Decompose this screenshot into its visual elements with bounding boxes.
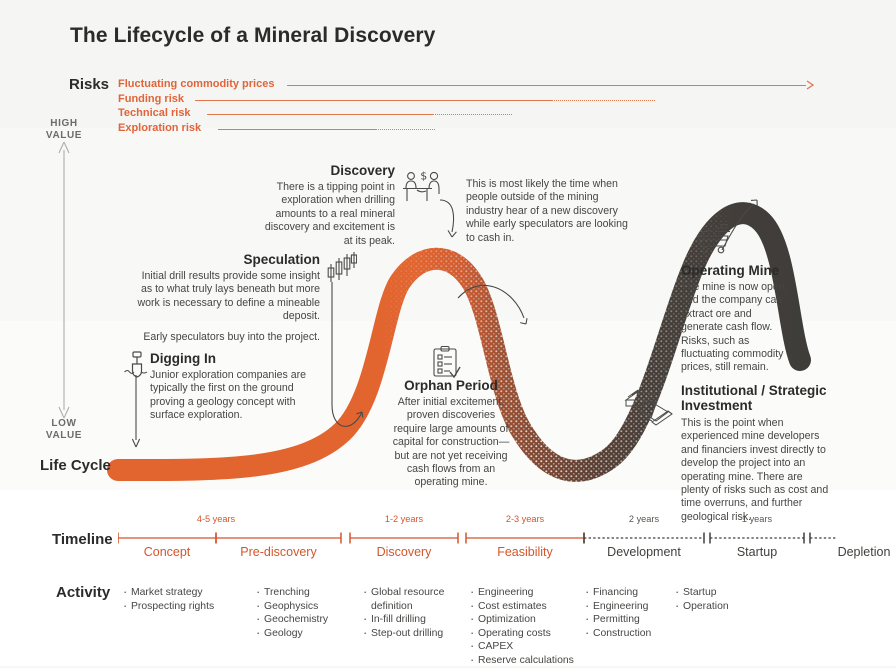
activity-list: Market strategyProspecting rights bbox=[123, 586, 231, 613]
mine-cart-icon bbox=[694, 222, 736, 254]
activity-item: Operation bbox=[675, 600, 783, 614]
activity-list: EngineeringCost estimatesOptimizationOpe… bbox=[470, 586, 578, 668]
stage-block-institutional-investment: Institutional / Strategic Investment Thi… bbox=[681, 383, 831, 524]
activity-item: Prospecting rights bbox=[123, 600, 231, 614]
stage-body: Initial drill results provide some insig… bbox=[128, 270, 320, 324]
activity-item: Step-out drilling bbox=[363, 627, 471, 641]
stage-body: This is the point when experienced mine … bbox=[681, 417, 831, 524]
shovel-icon bbox=[124, 350, 150, 386]
activity-item: Geology bbox=[256, 627, 364, 641]
page-title: The Lifecycle of a Mineral Discovery bbox=[70, 24, 435, 48]
timeline-segment-pre-discovery[interactable]: Pre-discovery bbox=[219, 545, 339, 559]
activity-item: Cost estimates bbox=[470, 600, 578, 614]
stage-block-speculation: Speculation Initial drill results provid… bbox=[128, 252, 320, 344]
clipboard-checklist-icon bbox=[431, 345, 461, 379]
timeline-segment-depletion[interactable]: Depletion bbox=[804, 545, 896, 559]
stage-heading: Digging In bbox=[150, 351, 325, 366]
activity-column: StartupOperation bbox=[675, 586, 783, 613]
activity-column: EngineeringCost estimatesOptimizationOpe… bbox=[470, 586, 578, 668]
stage-block-digging-in: Digging In Junior exploration companies … bbox=[150, 351, 325, 423]
stage-body: Junior exploration companies are typical… bbox=[150, 369, 325, 423]
activity-item: Engineering bbox=[470, 586, 578, 600]
activity-list: StartupOperation bbox=[675, 586, 783, 613]
timeline-segment-feasibility[interactable]: Feasibility bbox=[465, 545, 585, 559]
activity-item: Construction bbox=[585, 627, 693, 641]
timeline-segment-concept[interactable]: Concept bbox=[107, 545, 227, 559]
activity-item: Market strategy bbox=[123, 586, 231, 600]
activity-item: Permitting bbox=[585, 613, 693, 627]
activity-column: Global resource definitionIn-fill drilli… bbox=[363, 586, 471, 640]
stage-body-secondary: Early speculators buy into the project. bbox=[128, 331, 320, 344]
activity-list: Global resource definitionIn-fill drilli… bbox=[363, 586, 471, 640]
timeline-duration: 1-2 years bbox=[354, 514, 454, 524]
activity-item: In-fill drilling bbox=[363, 613, 471, 627]
timeline-segment-development[interactable]: Development bbox=[584, 545, 704, 559]
timeline-duration: 4-5 years bbox=[166, 514, 266, 524]
timeline-segment-startup[interactable]: Startup bbox=[697, 545, 817, 559]
stage-block-discovery-note: This is most likely the time when people… bbox=[466, 178, 628, 245]
activity-list: TrenchingGeophysicsGeochemistryGeology bbox=[256, 586, 364, 640]
stage-block-discovery: Discovery There is a tipping point in ex… bbox=[255, 163, 395, 248]
activity-column: TrenchingGeophysicsGeochemistryGeology bbox=[256, 586, 364, 640]
activity-item: CAPEX bbox=[470, 640, 578, 654]
timeline-section-label: Timeline bbox=[52, 531, 113, 548]
stage-body: The mine is now open, and the company ca… bbox=[681, 281, 791, 375]
activity-item: Startup bbox=[675, 586, 783, 600]
stage-heading: Speculation bbox=[128, 252, 320, 267]
activity-item: Operating costs bbox=[470, 627, 578, 641]
stage-body: This is most likely the time when people… bbox=[466, 178, 628, 245]
activity-column: Market strategyProspecting rights bbox=[123, 586, 231, 613]
timeline-duration: 1 years bbox=[707, 514, 807, 524]
timeline-track: Concept4-5 yearsPre-discoveryDiscovery1-… bbox=[118, 516, 836, 570]
timeline-duration: 2 years bbox=[594, 514, 694, 524]
activity-item: Trenching bbox=[256, 586, 364, 600]
money-contract-icon bbox=[622, 388, 674, 430]
candlestick-chart-icon bbox=[325, 250, 357, 288]
stage-heading: Orphan Period bbox=[392, 378, 510, 393]
activity-item: Geophysics bbox=[256, 600, 364, 614]
svg-text:$: $ bbox=[420, 170, 427, 183]
activity-item: Geochemistry bbox=[256, 613, 364, 627]
deal-desk-icon: $ bbox=[400, 168, 446, 206]
stage-block-operating-mine: Operating Mine The mine is now open, and… bbox=[681, 263, 791, 375]
activity-item: Optimization bbox=[470, 613, 578, 627]
stage-heading: Discovery bbox=[255, 163, 395, 178]
infographic-canvas: The Lifecycle of a Mineral Discovery Ris… bbox=[0, 0, 896, 666]
activity-item: Global resource definition bbox=[363, 586, 471, 613]
stage-heading: Institutional / Strategic Investment bbox=[681, 383, 831, 413]
stage-body: After initial excitement, proven discove… bbox=[392, 396, 510, 490]
stage-block-orphan-period: Orphan Period After initial excitement, … bbox=[392, 378, 510, 490]
activity-section-label: Activity bbox=[56, 584, 110, 601]
timeline-duration: 2-3 years bbox=[475, 514, 575, 524]
timeline-axis bbox=[118, 516, 836, 570]
stage-body: There is a tipping point in exploration … bbox=[255, 181, 395, 248]
stage-heading: Operating Mine bbox=[681, 263, 791, 278]
timeline-segment-discovery[interactable]: Discovery bbox=[344, 545, 464, 559]
lifecycle-label: Life Cycle bbox=[40, 457, 111, 474]
